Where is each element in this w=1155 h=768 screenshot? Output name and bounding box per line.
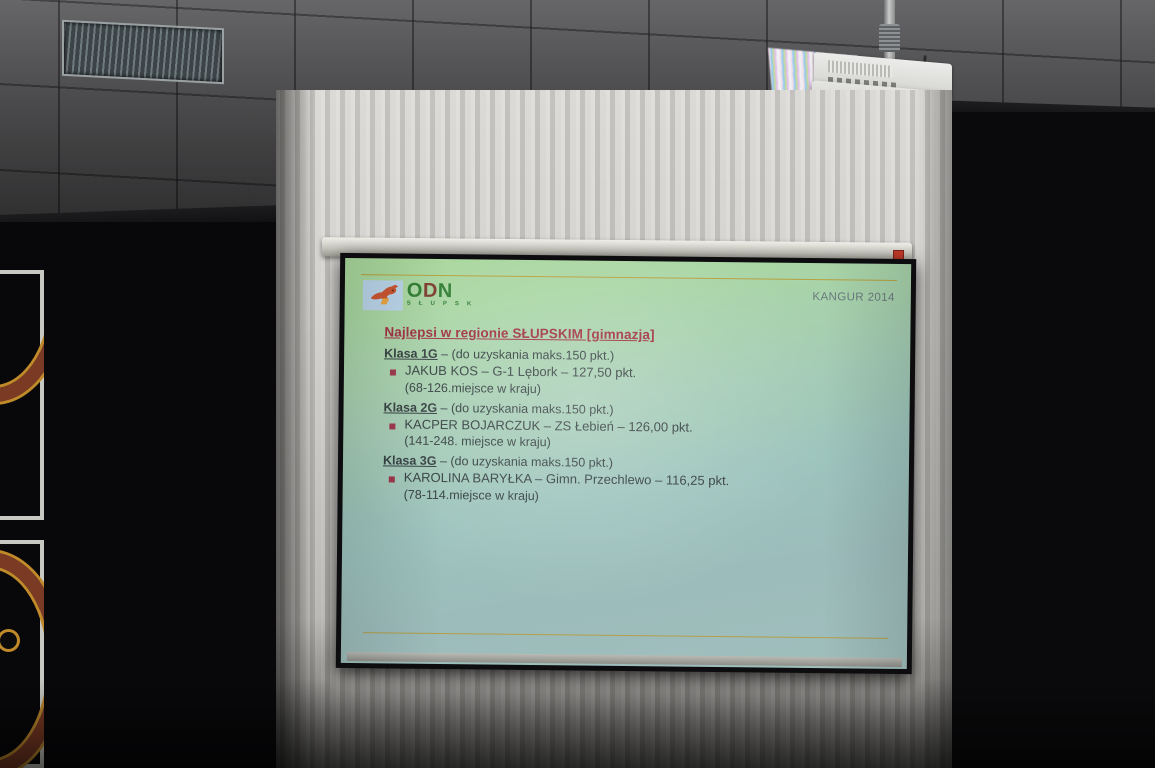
projected-slide: ODN S Ł U P S K KANGUR 2014 Najlepsi w r… [341, 258, 911, 669]
klasa-label-1: Klasa 1G [384, 346, 438, 361]
projection-screen: ODN S Ł U P S K KANGUR 2014 Najlepsi w r… [336, 253, 916, 674]
logo-letter-d: D [423, 280, 438, 302]
klasa-note-3: – (do uzyskania maks.150 pkt.) [436, 454, 613, 470]
logo-subtitle: S Ł U P S K [407, 301, 475, 308]
slide-header-label: KANGUR 2014 [812, 291, 895, 304]
floor-shadow [0, 678, 1155, 768]
entry-group-2: Klasa 2G – (do uzyskania maks.150 pkt.) … [383, 400, 887, 454]
decor-hole [0, 632, 17, 649]
bullet-square-icon [389, 476, 395, 482]
klasa-note-1: – (do uzyskania maks.150 pkt.) [438, 347, 615, 363]
slide-content-frame: ODN S Ł U P S K KANGUR 2014 Najlepsi w r… [357, 274, 897, 647]
slide-body: Najlepsi w regionie SŁUPSKIM [gimnazja] … [383, 324, 889, 507]
wall-decor-panel-upper [0, 270, 44, 520]
entry-group-1: Klasa 1G – (do uzyskania maks.150 pkt.) … [384, 346, 888, 400]
logo-letter-n: N [438, 280, 453, 302]
bullet-square-icon [389, 423, 395, 429]
projector-mount-collar [879, 24, 900, 52]
winner-text-1: JAKUB KOS – G-1 Lębork – 127,50 pkt. [405, 363, 636, 382]
logo-letter-o: O [407, 280, 423, 302]
screen-bottom-lip [347, 652, 902, 667]
logo-wordmark: ODN S Ł U P S K [407, 282, 475, 308]
air-vent-grille-icon [62, 20, 224, 84]
bullet-square-icon [390, 369, 396, 375]
klasa-label-3: Klasa 3G [383, 453, 437, 468]
right-dark-wall [944, 112, 1155, 768]
slide-footer-rule [363, 632, 888, 639]
klasa-label-2: Klasa 2G [384, 400, 438, 415]
slide-title: Najlepsi w regionie SŁUPSKIM [gimnazja] [384, 324, 888, 344]
room-scene: ODN S Ł U P S K KANGUR 2014 Najlepsi w r… [0, 0, 1155, 768]
klasa-note-2: – (do uzyskania maks.150 pkt.) [437, 400, 614, 416]
entry-group-3: Klasa 3G – (do uzyskania maks.150 pkt.) … [383, 453, 887, 507]
kangaroo-logo-icon [363, 280, 403, 310]
logo-odn-text: ODN [407, 282, 475, 301]
